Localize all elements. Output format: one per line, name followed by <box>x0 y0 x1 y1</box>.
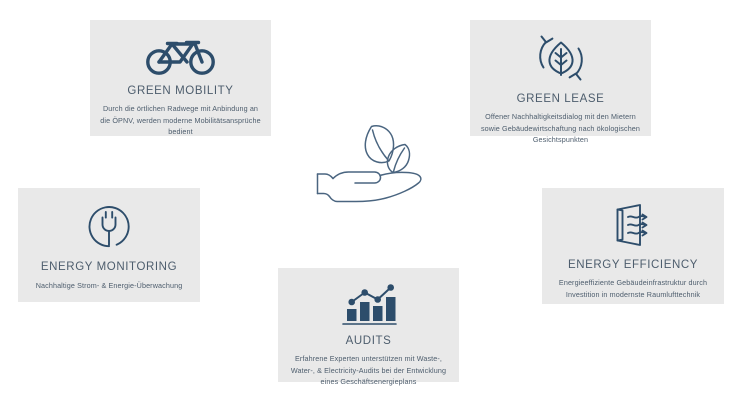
card-green-mobility[interactable]: GREEN MOBILITY Durch die örtlichen Radwe… <box>90 20 271 136</box>
card-title: ENERGY EFFICIENCY <box>568 259 698 271</box>
card-description: Erfahrene Experten unterstützen mit Wast… <box>278 353 459 388</box>
card-description: Nachhaltige Strom- & Energie-Überwachung <box>28 280 191 292</box>
card-title: GREEN LEASE <box>517 93 605 105</box>
leaf-recycle-icon <box>532 30 590 86</box>
card-description: Energieeffiziente Gebäudeinfrastruktur d… <box>542 277 724 300</box>
air-ventilation-icon <box>608 200 658 250</box>
card-audits[interactable]: AUDITS Erfahrene Experten unterstützen m… <box>278 268 459 382</box>
card-title: ENERGY MONITORING <box>41 261 177 273</box>
card-green-lease[interactable]: GREEN LEASE Offener Nachhaltigkeitsdialo… <box>470 20 651 136</box>
card-energy-monitoring[interactable]: ENERGY MONITORING Nachhaltige Strom- & E… <box>18 188 200 302</box>
card-title: AUDITS <box>346 335 392 347</box>
power-plug-circle-icon <box>83 201 135 251</box>
bicycle-icon <box>146 32 216 76</box>
card-description: Durch die örtlichen Radwege mit Anbindun… <box>90 103 271 138</box>
bar-chart-trend-icon <box>341 280 397 326</box>
card-description: Offener Nachhaltigkeitsdialog mit den Mi… <box>470 111 651 146</box>
card-title: GREEN MOBILITY <box>127 85 233 97</box>
infographic-canvas: GREEN MOBILITY Durch die örtlichen Radwe… <box>0 0 742 400</box>
hand-holding-leaves-icon <box>311 118 435 206</box>
card-energy-efficiency[interactable]: ENERGY EFFICIENCY Energieeffiziente Gebä… <box>542 188 724 304</box>
